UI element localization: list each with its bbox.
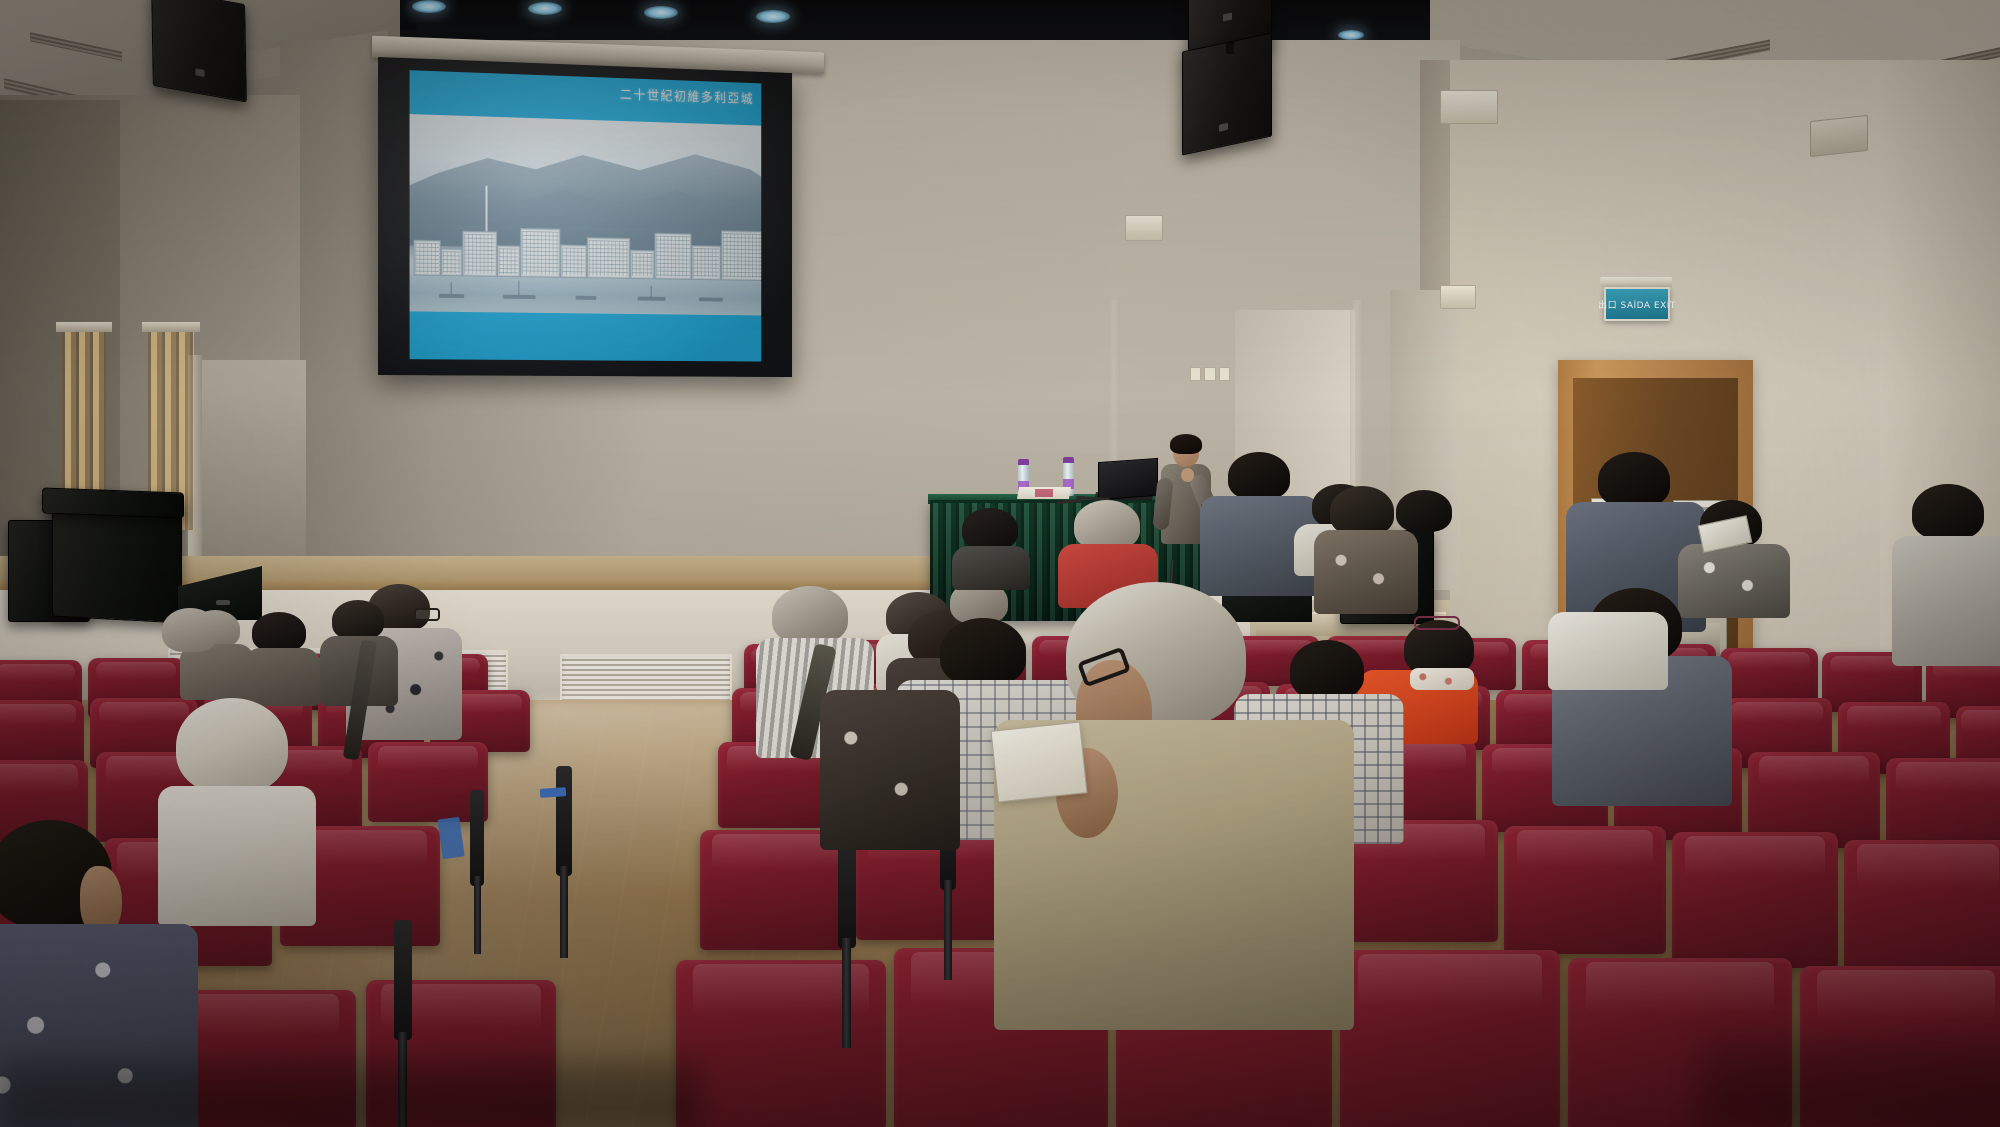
seat[interactable] [676, 960, 886, 1127]
person-hair [1330, 486, 1394, 536]
seat-armrest [556, 766, 572, 876]
person-hair [252, 612, 306, 652]
exit-sign: 出口 SAÍDA EXIT [1604, 287, 1670, 321]
monitor-handle [216, 600, 230, 605]
person-torso [1548, 612, 1668, 690]
presenter-hair [1170, 434, 1202, 454]
person-torso [244, 648, 320, 706]
papers-marker [1035, 489, 1053, 497]
presenter-hand [1181, 468, 1194, 482]
speaker-logo-icon [1219, 123, 1228, 132]
bottle-cap [1063, 457, 1074, 463]
person-torso [1314, 530, 1418, 614]
seat-leg [944, 880, 952, 980]
wall-outlet [1204, 367, 1215, 381]
curtain-rail [56, 322, 112, 332]
person-hair [1290, 640, 1364, 700]
seat-armrest [394, 920, 412, 1040]
projection-screen: 二十世紀初維多利亞城 [378, 57, 792, 377]
speaker-bracket [1226, 42, 1234, 54]
seat-armrest [470, 790, 484, 886]
person-hair [1228, 452, 1290, 500]
person-torso [180, 644, 254, 700]
person-hair [962, 508, 1018, 550]
wall-outlet [1219, 367, 1230, 381]
wall-outlet [1190, 367, 1201, 381]
exit-sign-label: 出口 SAÍDA EXIT [1598, 298, 1676, 311]
person-hair [332, 600, 384, 640]
wall-outlet-group [1190, 367, 1230, 379]
person-hair [1396, 490, 1452, 532]
spotlight [528, 2, 562, 15]
bottle-cap [1018, 459, 1029, 465]
person-torso [1892, 536, 2000, 666]
person-hair [940, 618, 1026, 686]
foreground-shadow [0, 1060, 700, 1127]
hanging-speaker [151, 0, 247, 102]
person-torso [1678, 544, 1790, 618]
wall-access-panel [1440, 90, 1498, 124]
person-hair [772, 586, 848, 644]
seat[interactable] [1340, 950, 1560, 1127]
foreground-shadow [1700, 1040, 2000, 1127]
eyeglasses [1414, 616, 1460, 630]
speaker-logo-icon [195, 68, 204, 77]
spotlight [412, 0, 446, 13]
wall-access-panel [1125, 215, 1163, 241]
exit-sign-hood [1600, 277, 1672, 287]
seat-leg [842, 938, 851, 1048]
spotlight [756, 10, 790, 23]
wall-sensor [1440, 285, 1476, 309]
person-hair [162, 608, 218, 652]
person-torso [158, 786, 316, 926]
seat-tablet-arm [540, 787, 567, 798]
curtain-rail [142, 322, 200, 332]
slide-bottom-band [410, 311, 762, 361]
seat[interactable] [1672, 832, 1838, 968]
person-torso [952, 546, 1030, 590]
slide-surface: 二十世紀初維多利亞城 [410, 70, 762, 361]
seat[interactable] [1844, 840, 2000, 986]
seat[interactable] [1504, 826, 1666, 954]
eyeglasses [414, 608, 440, 621]
seat-leg [560, 866, 568, 958]
person-hair [1912, 484, 1984, 540]
handout-paper [990, 721, 1087, 802]
slide-photo [410, 114, 762, 315]
seat-leg [474, 876, 481, 954]
person-torso [820, 690, 960, 850]
wall-mounted-box [1810, 115, 1868, 157]
person-hair [1598, 452, 1670, 508]
lecture-hall-photo: 二十世紀初維多利亞城 [0, 0, 2000, 1127]
photo-waterfront-buildings [410, 218, 762, 281]
laptop-screen [1098, 458, 1158, 500]
photo-harbour-water [410, 275, 762, 315]
speaker-logo-icon [1223, 13, 1232, 22]
person-hair [176, 698, 288, 794]
person-hair [1074, 500, 1140, 550]
person-scarf [1410, 668, 1474, 690]
spotlight [644, 6, 678, 19]
spotlight [1338, 30, 1364, 40]
floor-speaker-top [42, 488, 184, 519]
